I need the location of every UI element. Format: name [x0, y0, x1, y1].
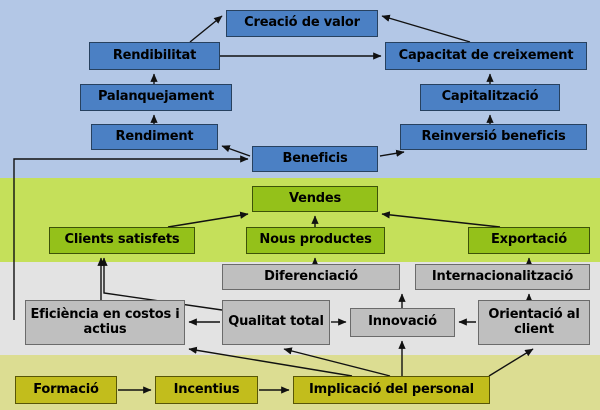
node-eficiencia-costos[interactable]: Eficiència en costos i actius: [25, 300, 185, 345]
node-label: Eficiència en costos i actius: [29, 308, 181, 336]
edge-beneficis-to-rendiment: [222, 146, 250, 156]
node-label: Capacitat de creixement: [399, 49, 574, 63]
node-label: Vendes: [289, 192, 341, 206]
diagram-canvas: Creació de valorRendibilitatCapacitat de…: [0, 0, 600, 410]
edge-capacitat-to-creacio-de-valor: [382, 16, 470, 42]
node-internacionalitzacio[interactable]: Internacionalització: [415, 264, 590, 290]
edge-clients-satisfets-to-vendes: [168, 214, 248, 227]
node-label: Qualitat total: [228, 315, 324, 329]
node-incentius[interactable]: Incentius: [155, 376, 258, 404]
node-qualitat-total[interactable]: Qualitat total: [222, 300, 330, 345]
node-formacio[interactable]: Formació: [15, 376, 117, 404]
node-label: Incentius: [174, 383, 240, 397]
node-label: Internacionalització: [432, 270, 573, 284]
edge-rendibilitat-to-creacio-de-valor: [190, 16, 222, 42]
node-rendibilitat[interactable]: Rendibilitat: [89, 42, 220, 70]
node-rendiment[interactable]: Rendiment: [91, 124, 218, 150]
node-label: Beneficis: [282, 152, 347, 166]
node-nous-productes[interactable]: Nous productes: [246, 227, 385, 254]
node-label: Clients satisfets: [65, 233, 180, 247]
node-label: Capitalització: [442, 90, 539, 104]
node-label: Orientació al client: [482, 308, 586, 336]
node-orientacio-al-client[interactable]: Orientació al client: [478, 300, 590, 345]
node-label: Nous productes: [259, 233, 371, 247]
node-label: Rendiment: [116, 130, 194, 144]
edge-beneficis-to-reinversio: [380, 152, 404, 156]
node-innovacio[interactable]: Innovació: [350, 308, 455, 337]
edge-implicacio-to-orientacio: [489, 349, 533, 376]
edge-exportacio-to-vendes: [382, 214, 500, 227]
node-label: Creació de valor: [244, 16, 360, 30]
node-label: Implicació del personal: [309, 383, 474, 397]
node-exportacio[interactable]: Exportació: [468, 227, 590, 254]
node-vendes[interactable]: Vendes: [252, 186, 378, 212]
node-beneficis[interactable]: Beneficis: [252, 146, 378, 172]
node-clients-satisfets[interactable]: Clients satisfets: [49, 227, 195, 254]
node-creacio-de-valor[interactable]: Creació de valor: [226, 10, 378, 37]
node-diferenciacio[interactable]: Diferenciació: [222, 264, 400, 290]
edge-implicacio-to-eficiencia: [189, 349, 352, 376]
node-label: Rendibilitat: [113, 49, 196, 63]
node-capacitat-de-creixement[interactable]: Capacitat de creixement: [385, 42, 587, 70]
node-label: Exportació: [491, 233, 567, 247]
node-label: Formació: [33, 383, 99, 397]
node-label: Diferenciació: [264, 270, 358, 284]
node-label: Innovació: [368, 315, 437, 329]
node-capitalitzacio[interactable]: Capitalització: [420, 84, 560, 111]
node-label: Palanquejament: [98, 90, 214, 104]
node-implicacio-del-personal[interactable]: Implicació del personal: [293, 376, 490, 404]
edge-implicacio-to-qualitat: [284, 349, 390, 376]
node-label: Reinversió beneficis: [421, 130, 565, 144]
node-palanquejament[interactable]: Palanquejament: [80, 84, 232, 111]
node-reinversio-beneficis[interactable]: Reinversió beneficis: [400, 124, 587, 150]
